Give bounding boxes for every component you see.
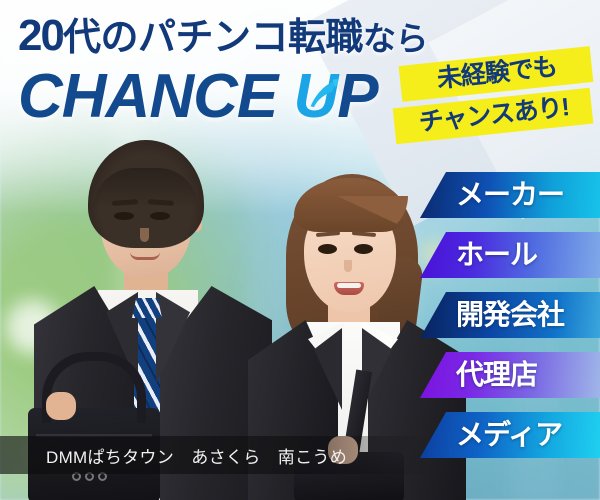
woman-mouth (334, 282, 364, 295)
recruitment-banner: 20代のパチンコ転職なら CHANCE UP 未経験でも チャンスあり! メーカ… (0, 0, 600, 500)
category-label: 代理店 (456, 361, 537, 389)
category-list: メーカー ホール 開発会社 代理店 メディア (420, 172, 600, 472)
category-button-maker[interactable]: メーカー (420, 172, 600, 218)
chance-word: CHANCE (18, 62, 293, 131)
category-label: メーカー (456, 181, 564, 209)
woman-nose (344, 260, 352, 272)
credit-caption-text: DMMぱちタウン あさくら 南こうめ (0, 443, 347, 468)
category-button-agency[interactable]: 代理店 (420, 352, 600, 398)
category-label: ホール (456, 241, 537, 269)
man-hand (46, 392, 76, 420)
headline-age-number: 20 (18, 11, 63, 60)
man-nose (140, 228, 149, 242)
woman-bangs (294, 178, 406, 232)
headline-line-1: 20代のパチンコ転職なら (18, 14, 448, 58)
woman-eye-left (318, 244, 337, 254)
up-letter-p: P (337, 62, 377, 131)
headline-line-2: CHANCE UP (18, 66, 448, 128)
category-button-media[interactable]: メディア (420, 412, 600, 458)
man-eye-right (150, 212, 170, 220)
woman-eye-right (354, 244, 373, 254)
category-button-developer[interactable]: 開発会社 (420, 292, 600, 338)
headline-line-1-suffix: なら (363, 20, 428, 57)
category-label: 開発会社 (456, 301, 564, 329)
category-button-hall[interactable]: ホール (420, 232, 600, 278)
up-letter-u: U (293, 62, 337, 131)
headline-block: 20代のパチンコ転職なら CHANCE UP (18, 14, 448, 128)
man-tie-knot (132, 298, 162, 318)
man-mouth (130, 252, 160, 260)
category-label: メディア (456, 421, 562, 449)
credit-caption-bar: DMMぱちタウン あさくら 南こうめ (0, 436, 430, 474)
man-eye-left (114, 212, 134, 220)
no-experience-badge: 未経験でも チャンスあり! (394, 56, 594, 134)
headline-line-1-body: 代のパチンコ転職 (63, 17, 363, 59)
